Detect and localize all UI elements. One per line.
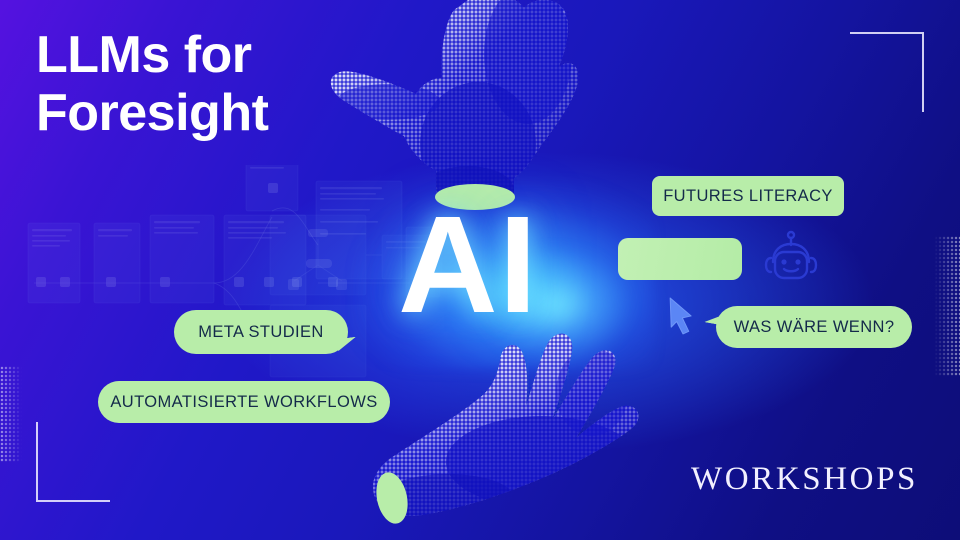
poster-canvas: LLMs for Foresight AI FUTURES LITERACY W… (0, 0, 960, 540)
bubble-label: FUTURES LITERACY (663, 187, 833, 206)
bubble-futures-literacy[interactable]: FUTURES LITERACY (652, 176, 844, 216)
bubble-was-waere-wenn[interactable]: WAS WÄRE WENN? (716, 306, 912, 348)
background-flowchart-diagram (10, 165, 440, 395)
workshops-label: WORKSHOPS (691, 461, 918, 498)
halftone-texture-left (0, 366, 22, 462)
corner-bracket-bottom-left (36, 422, 110, 502)
bubble-label: META STUDIEN (198, 323, 324, 342)
bubble-empty-placeholder[interactable] (618, 238, 742, 280)
bubble-label: AUTOMATISIERTE WORKFLOWS (110, 393, 377, 412)
corner-bracket-top-right (850, 32, 924, 112)
halftone-hand-open-palm-icon (352, 322, 644, 534)
bubble-automatisierte-workflows[interactable]: AUTOMATISIERTE WORKFLOWS (98, 381, 390, 423)
bubble-label: WAS WÄRE WENN? (734, 318, 895, 337)
halftone-texture-right (934, 236, 960, 376)
ai-wordmark: AI (398, 196, 538, 334)
cursor-arrow-icon[interactable] (666, 295, 696, 337)
page-title: LLMs for Foresight (36, 26, 456, 142)
robot-icon (760, 228, 822, 290)
bubble-meta-studien[interactable]: META STUDIEN (174, 310, 348, 354)
